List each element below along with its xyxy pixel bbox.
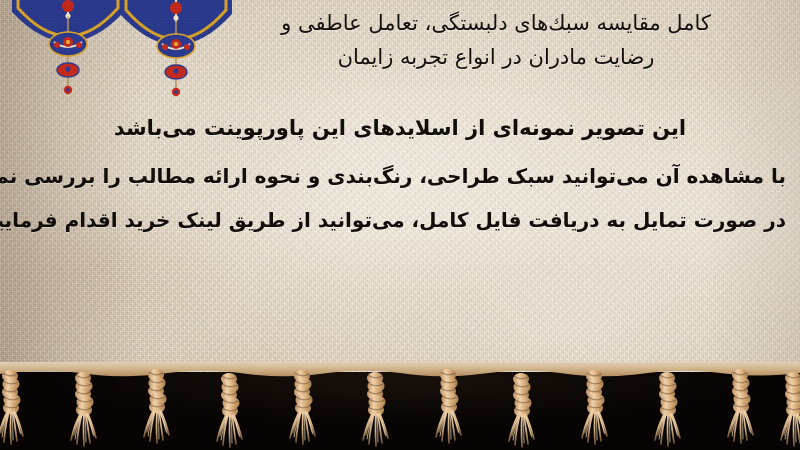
slide-body: این تصویر نمونه‌ای از اسلایدهای این پاور… <box>14 108 786 240</box>
slide-canvas: کامل مقایسه سبك‌های دلبستگی، تعامل عاطفی… <box>0 0 800 450</box>
title-line-1: کامل مقایسه سبك‌های دلبستگی، تعامل عاطفی… <box>216 6 776 40</box>
title-line-2: رضایت مادران در انواع تجربه زایمان <box>216 40 776 74</box>
slide-title: کامل مقایسه سبك‌های دلبستگی، تعامل عاطفی… <box>216 6 776 74</box>
body-line-purchase-link: در صورت تمایل به دریافت فایل کامل، می‌تو… <box>14 200 786 240</box>
body-line-sample-notice: این تصویر نمونه‌ای از اسلایدهای این پاور… <box>14 108 786 148</box>
carpet-black-border <box>0 372 800 450</box>
body-line-design-review: با مشاهده آن می‌توانید سبک طراحی، رنگ‌بن… <box>14 156 786 196</box>
